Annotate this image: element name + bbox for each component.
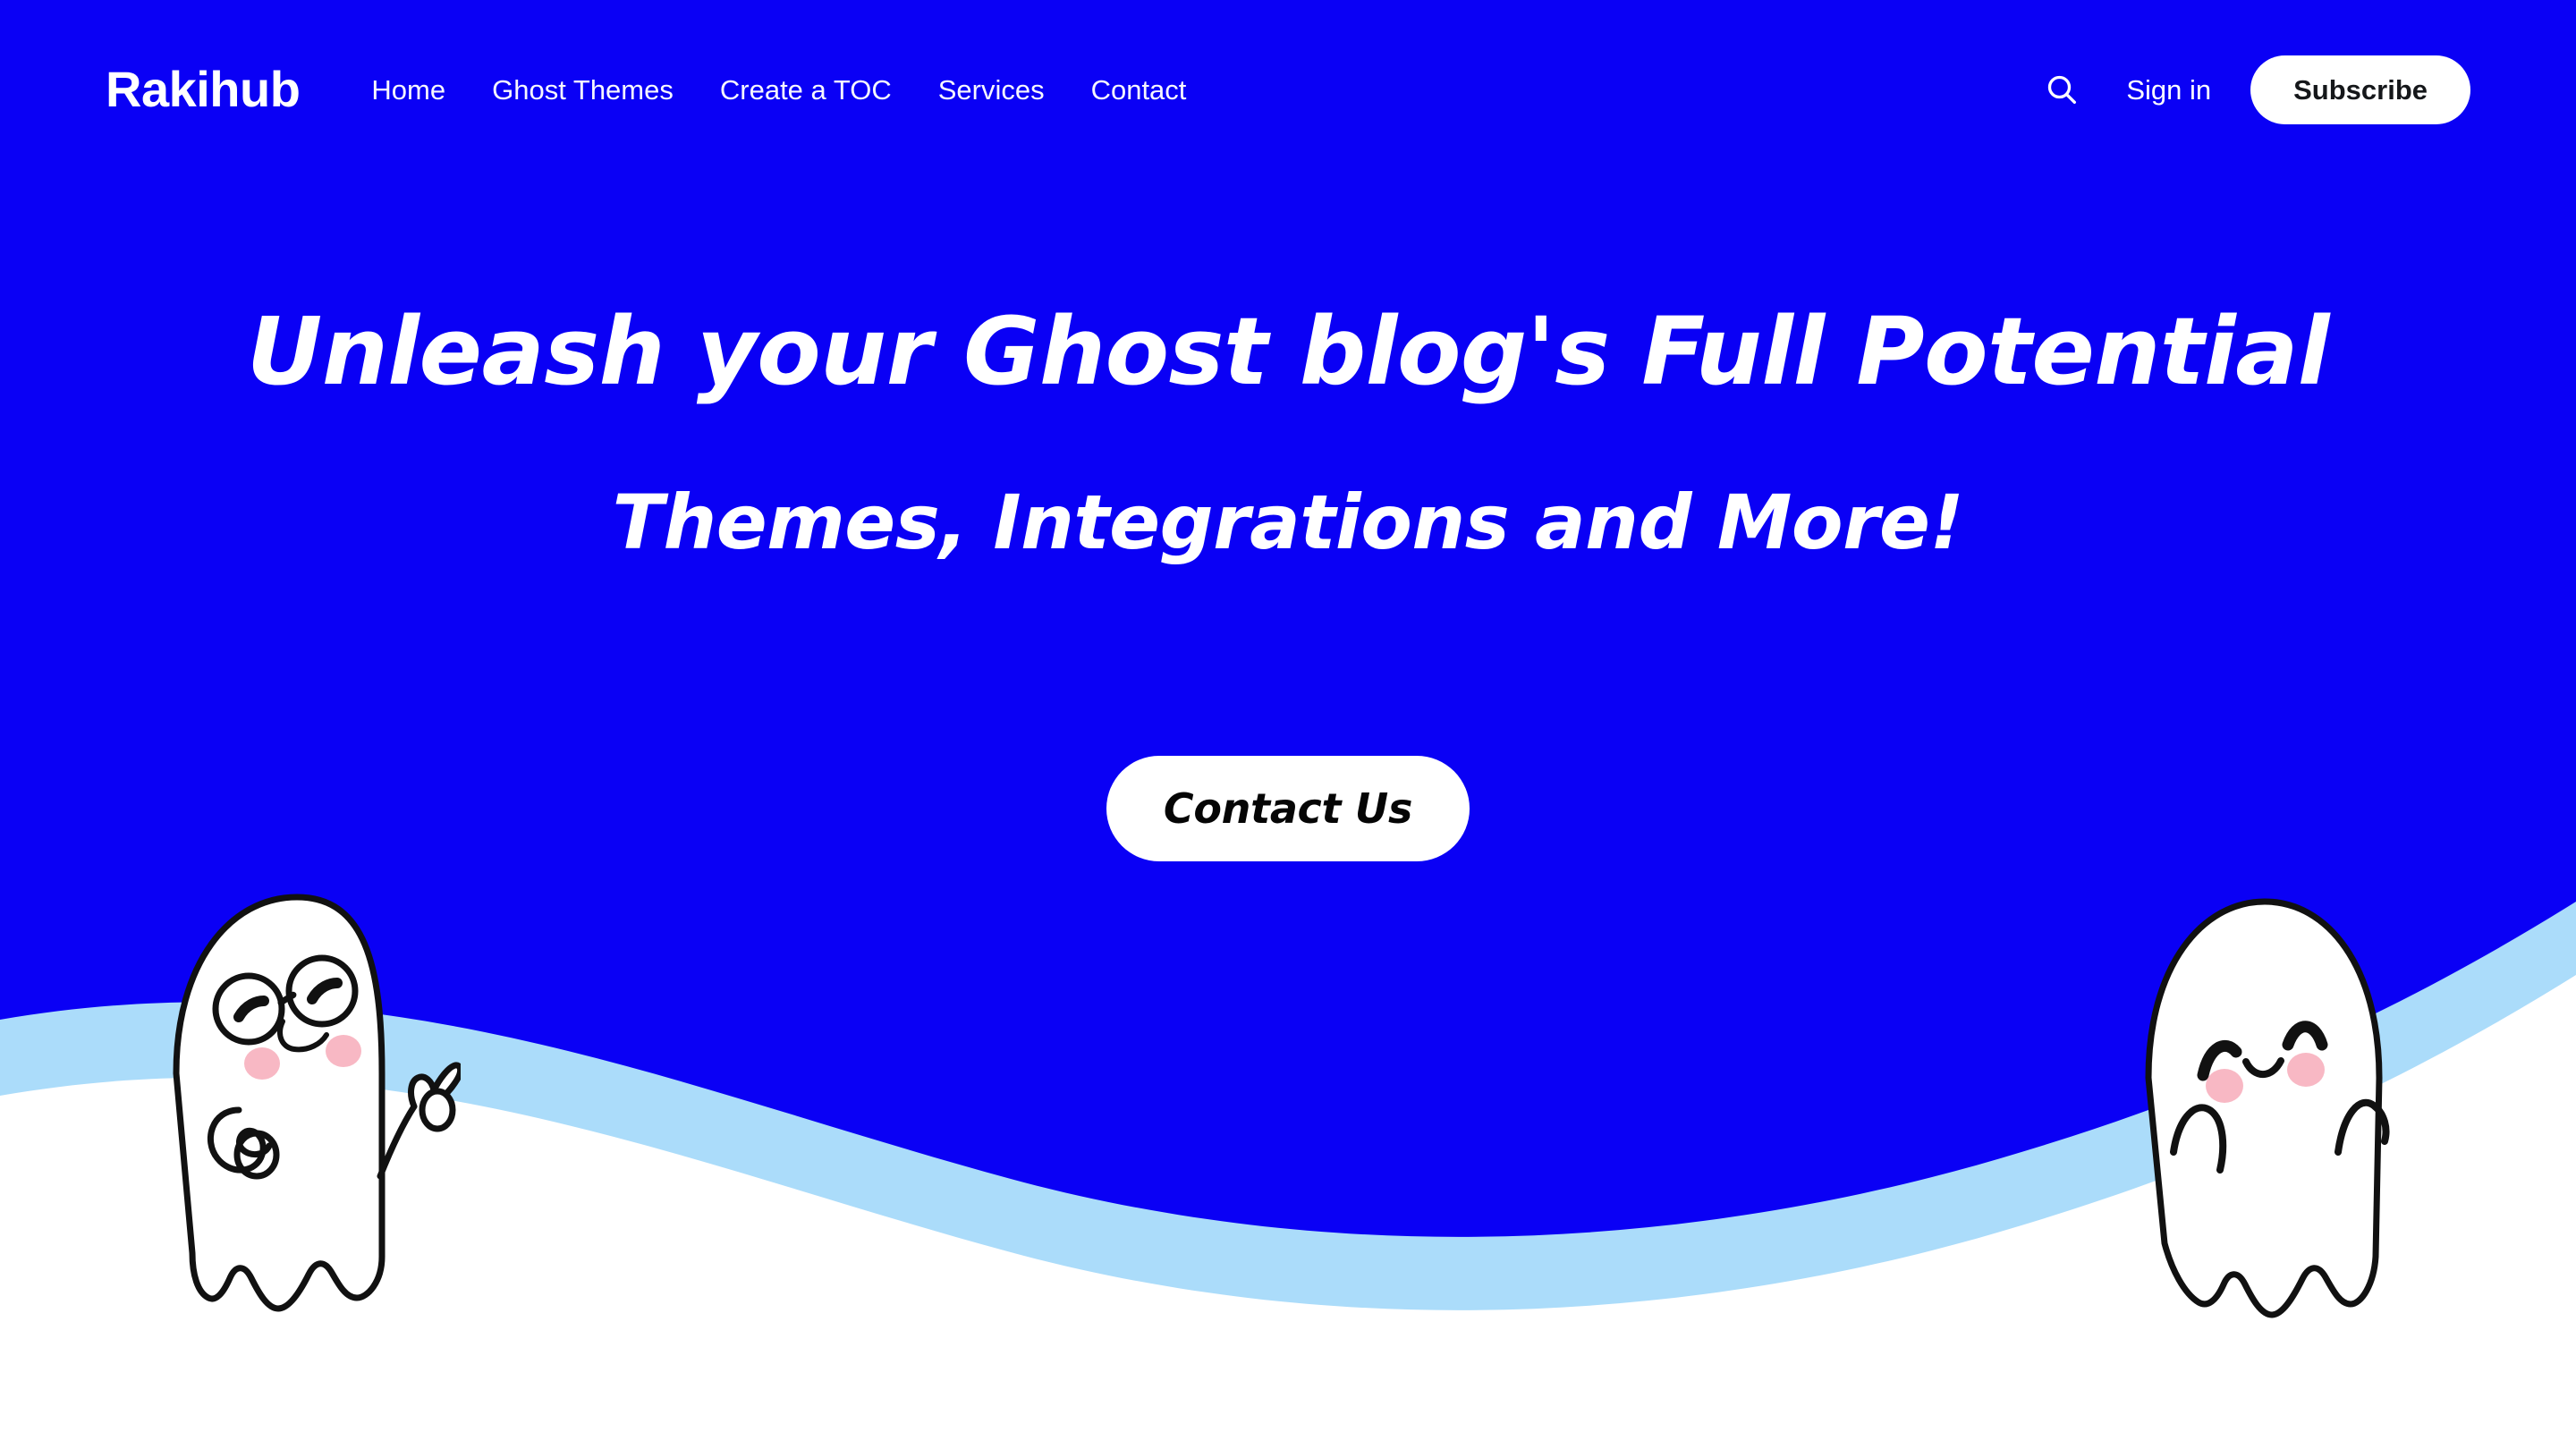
hero-cta-wrapper: Contact Us	[0, 756, 2576, 861]
main-navigation: Home Ghost Themes Create a TOC Services …	[371, 76, 1186, 104]
site-header: Rakihub Home Ghost Themes Create a TOC S…	[0, 0, 2576, 179]
ghost-hand-thumb-ring	[422, 1091, 453, 1129]
ghost-blush-left	[244, 1047, 280, 1080]
ghost-blush-left	[2206, 1069, 2243, 1103]
ghost-blush-right	[326, 1035, 361, 1067]
subscribe-button[interactable]: Subscribe	[2250, 55, 2470, 124]
hero-subheadline: Themes, Integrations and More!	[0, 480, 2576, 564]
ghost-body	[176, 897, 382, 1309]
page-root: Rakihub Home Ghost Themes Create a TOC S…	[0, 0, 2576, 1449]
contact-us-button[interactable]: Contact Us	[1106, 756, 1470, 861]
nav-item-services[interactable]: Services	[938, 76, 1045, 104]
ghost-blush-right	[2287, 1053, 2325, 1087]
site-logo[interactable]: Rakihub	[106, 64, 300, 114]
signin-link[interactable]: Sign in	[2126, 76, 2211, 104]
header-actions: Sign in Subscribe	[2035, 55, 2470, 124]
nav-item-create-a-toc[interactable]: Create a TOC	[720, 76, 892, 104]
nav-item-ghost-themes[interactable]: Ghost Themes	[492, 76, 674, 104]
search-icon	[2044, 72, 2080, 107]
ghost-left-arm	[380, 1106, 414, 1176]
search-button[interactable]	[2035, 63, 2089, 116]
hero-headline: Unleash your Ghost blog's Full Potential	[0, 300, 2576, 403]
ghost-left-illustration	[157, 881, 461, 1355]
ghost-body	[2148, 902, 2379, 1315]
nav-item-home[interactable]: Home	[371, 76, 445, 104]
nav-item-contact[interactable]: Contact	[1091, 76, 1187, 104]
ghost-right-illustration	[2120, 885, 2406, 1351]
